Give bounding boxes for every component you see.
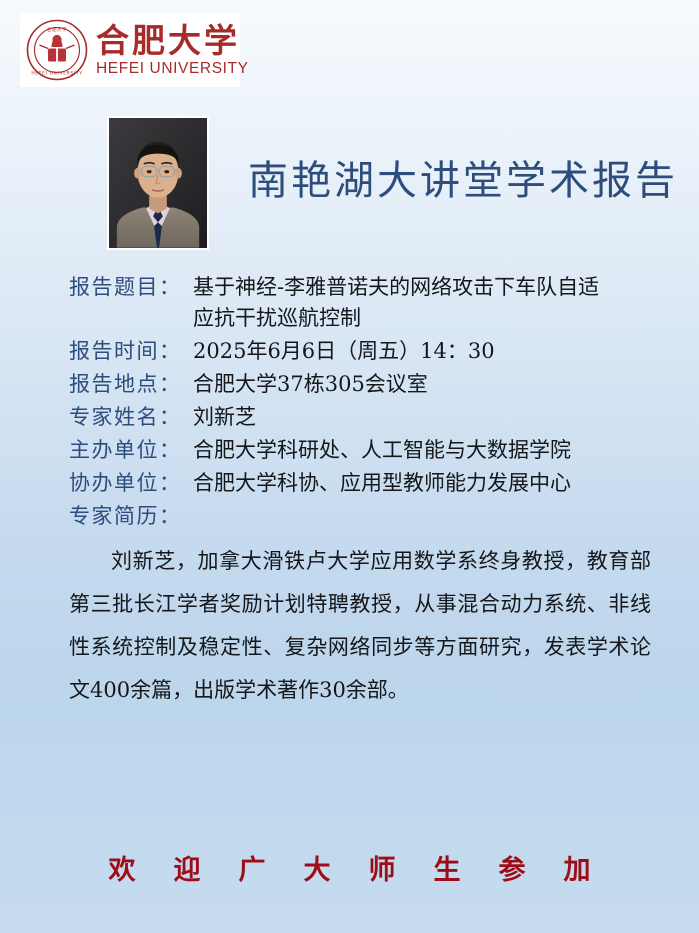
logo-name-cn: 合肥大学 (96, 23, 249, 59)
info-label: 报告题目： (69, 272, 193, 303)
info-value: 基于神经-李雅普诺夫的网络攻击下车队自适 应抗干扰巡航控制 (193, 272, 699, 334)
info-row-topic: 报告题目： 基于神经-李雅普诺夫的网络攻击下车队自适 应抗干扰巡航控制 (0, 272, 699, 334)
seminar-poster: 合肥大学 HEFEI UNIVERSITY 合肥大学 HEFEI UNIVERS… (0, 0, 699, 933)
info-label: 协办单位： (69, 468, 193, 499)
welcome-message: 欢迎广大师生参加 (71, 852, 629, 890)
info-value: 合肥大学科研处、人工智能与大数据学院 (193, 435, 699, 466)
speaker-portrait (107, 116, 209, 250)
info-label: 专家姓名： (69, 402, 193, 433)
info-value: 合肥大学科协、应用型教师能力发展中心 (193, 468, 699, 499)
svg-text:合肥大学: 合肥大学 (47, 26, 67, 33)
university-logo-block: 合肥大学 HEFEI UNIVERSITY 合肥大学 HEFEI UNIVERS… (20, 13, 240, 87)
info-row-organizer: 主办单位： 合肥大学科研处、人工智能与大数据学院 (0, 435, 699, 466)
info-value: 2025年6月6日（周五）14：30 (193, 336, 699, 367)
info-row-venue: 报告地点： 合肥大学37栋305会议室 (0, 369, 699, 400)
hero-section: 南艳湖大讲堂学术报告 (0, 112, 699, 257)
info-list: 报告题目： 基于神经-李雅普诺夫的网络攻击下车队自适 应抗干扰巡航控制 报告时间… (0, 272, 699, 712)
info-label: 报告时间： (69, 336, 193, 367)
info-label: 主办单位： (69, 435, 193, 466)
logo-wordmark: 合肥大学 HEFEI UNIVERSITY (96, 23, 249, 78)
info-value: 刘新芝 (193, 402, 699, 433)
info-label: 报告地点： (69, 369, 193, 400)
info-value-line2: 应抗干扰巡航控制 (193, 303, 651, 334)
info-row-time: 报告时间： 2025年6月6日（周五）14：30 (0, 336, 699, 367)
bio-heading: 专家简历： (0, 501, 699, 532)
hefei-university-seal-icon: 合肥大学 HEFEI UNIVERSITY (26, 19, 88, 81)
footer: 欢迎广大师生参加 (0, 852, 699, 890)
info-value: 合肥大学37栋305会议室 (193, 369, 699, 400)
logo-name-en: HEFEI UNIVERSITY (96, 60, 249, 78)
info-row-coorganizer: 协办单位： 合肥大学科协、应用型教师能力发展中心 (0, 468, 699, 499)
info-value-line1: 基于神经-李雅普诺夫的网络攻击下车队自适 (193, 275, 599, 299)
svg-text:HEFEI UNIVERSITY: HEFEI UNIVERSITY (31, 71, 82, 77)
page-title: 南艳湖大讲堂学术报告 (248, 156, 678, 206)
info-row-speaker: 专家姓名： 刘新芝 (0, 402, 699, 433)
bio-text: 刘新芝，加拿大滑铁卢大学应用数学系终身教授，教育部第三批长江学者奖励计划特聘教授… (0, 540, 699, 712)
